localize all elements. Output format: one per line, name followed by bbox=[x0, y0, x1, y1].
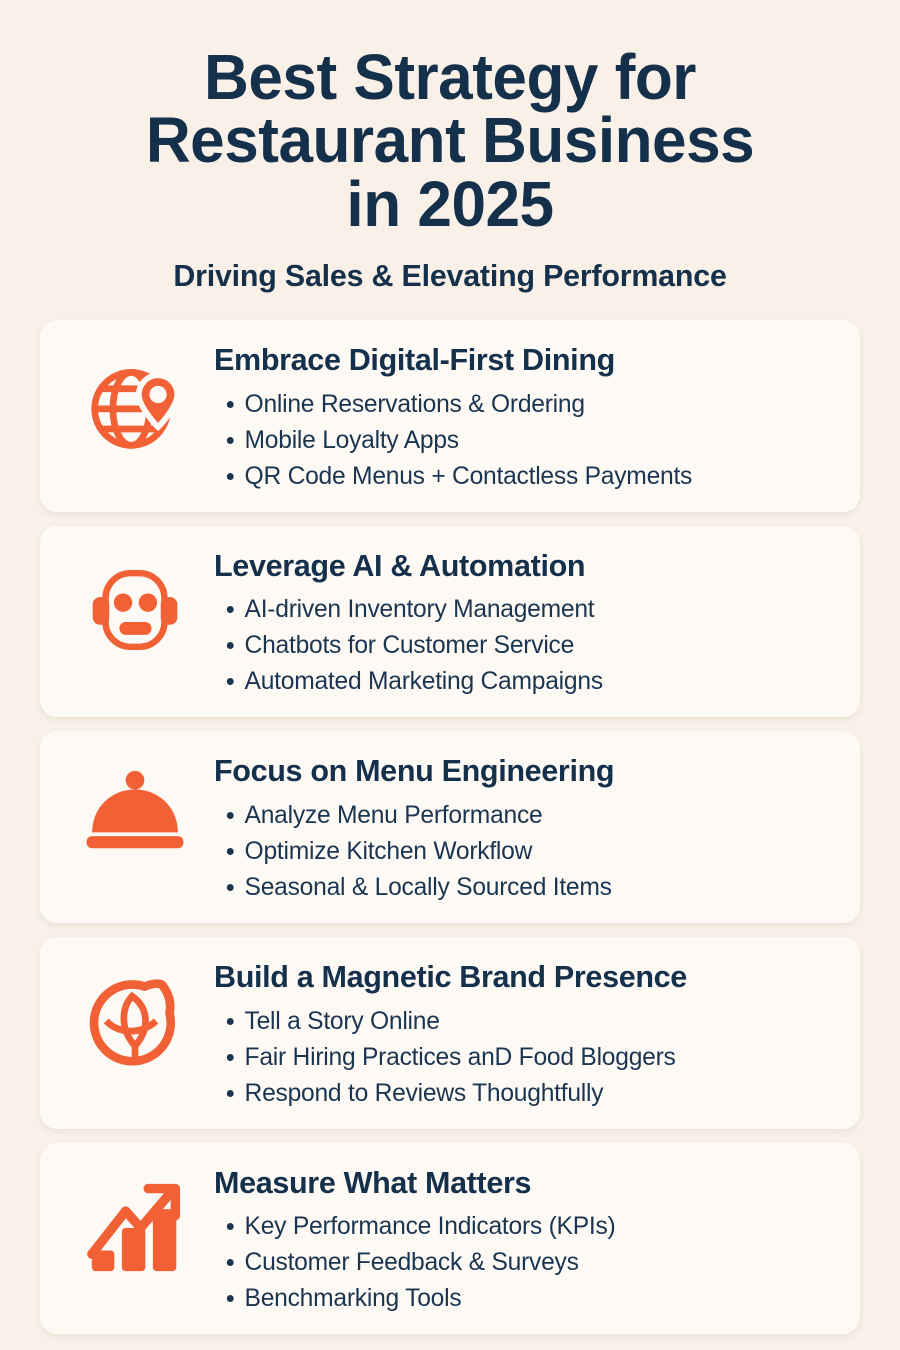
card-body: Leverage AI & Automation AI-driven Inven… bbox=[210, 542, 840, 700]
card-body: Embrace Digital-First Dining Online Rese… bbox=[210, 336, 840, 494]
card-bullet-list: Online Reservations & Ordering Mobile Lo… bbox=[214, 386, 840, 494]
card-bullet-list: Analyze Menu Performance Optimize Kitche… bbox=[214, 797, 840, 905]
strategy-card-list: Embrace Digital-First Dining Online Rese… bbox=[0, 320, 900, 1334]
card-body: Build a Magnetic Brand Presence Tell a S… bbox=[210, 953, 840, 1111]
strategy-card: Focus on Menu Engineering Analyze Menu P… bbox=[40, 731, 860, 923]
strategy-card: Measure What Matters Key Performance Ind… bbox=[40, 1143, 860, 1335]
list-item: Seasonal & Locally Sourced Items bbox=[214, 869, 831, 905]
list-item: Analyze Menu Performance bbox=[214, 797, 831, 833]
list-item: Key Performance Indicators (KPIs) bbox=[214, 1208, 831, 1244]
brand-leaf-globe-icon bbox=[60, 953, 210, 1069]
card-bullet-list: AI-driven Inventory Management Chatbots … bbox=[214, 591, 840, 699]
list-item: Respond to Reviews Thoughtfully bbox=[214, 1075, 831, 1111]
list-item: Optimize Kitchen Workflow bbox=[214, 833, 831, 869]
card-title: Focus on Menu Engineering bbox=[214, 753, 831, 789]
card-title: Measure What Matters bbox=[214, 1165, 831, 1201]
list-item: Automated Marketing Campaigns bbox=[214, 663, 831, 699]
growth-bar-chart-icon bbox=[60, 1159, 210, 1273]
title-line-1: Best Strategy for bbox=[91, 46, 809, 109]
strategy-card: Embrace Digital-First Dining Online Rese… bbox=[40, 320, 860, 512]
globe-pin-icon bbox=[60, 336, 210, 454]
infographic-page: Best Strategy for Restaurant Business in… bbox=[0, 0, 900, 1350]
list-item: Mobile Loyalty Apps bbox=[214, 422, 831, 458]
list-item: Chatbots for Customer Service bbox=[214, 627, 831, 663]
card-title: Build a Magnetic Brand Presence bbox=[214, 959, 831, 995]
title-line-3: in 2025 bbox=[91, 173, 809, 236]
cloche-icon bbox=[60, 747, 210, 851]
card-title: Embrace Digital-First Dining bbox=[214, 342, 831, 378]
list-item: Benchmarking Tools bbox=[214, 1280, 831, 1316]
card-body: Measure What Matters Key Performance Ind… bbox=[210, 1159, 840, 1317]
header: Best Strategy for Restaurant Business in… bbox=[0, 0, 900, 294]
card-title: Leverage AI & Automation bbox=[214, 548, 831, 584]
list-item: Tell a Story Online bbox=[214, 1003, 831, 1039]
title-line-2: Restaurant Business bbox=[91, 109, 809, 172]
list-item: Customer Feedback & Surveys bbox=[214, 1244, 831, 1280]
robot-head-icon bbox=[60, 542, 210, 656]
list-item: Online Reservations & Ordering bbox=[214, 386, 831, 422]
list-item: AI-driven Inventory Management bbox=[214, 591, 831, 627]
strategy-card: Leverage AI & Automation AI-driven Inven… bbox=[40, 526, 860, 718]
list-item: QR Code Menus + Contactless Payments bbox=[214, 458, 831, 494]
card-bullet-list: Tell a Story Online Fair Hiring Practice… bbox=[214, 1003, 840, 1111]
card-bullet-list: Key Performance Indicators (KPIs) Custom… bbox=[214, 1208, 840, 1316]
page-subtitle: Driving Sales & Elevating Performance bbox=[9, 258, 891, 294]
strategy-card: Build a Magnetic Brand Presence Tell a S… bbox=[40, 937, 860, 1129]
list-item: Fair Hiring Practices anD Food Bloggers bbox=[214, 1039, 831, 1075]
card-body: Focus on Menu Engineering Analyze Menu P… bbox=[210, 747, 840, 905]
page-title: Best Strategy for Restaurant Business in… bbox=[91, 46, 809, 236]
